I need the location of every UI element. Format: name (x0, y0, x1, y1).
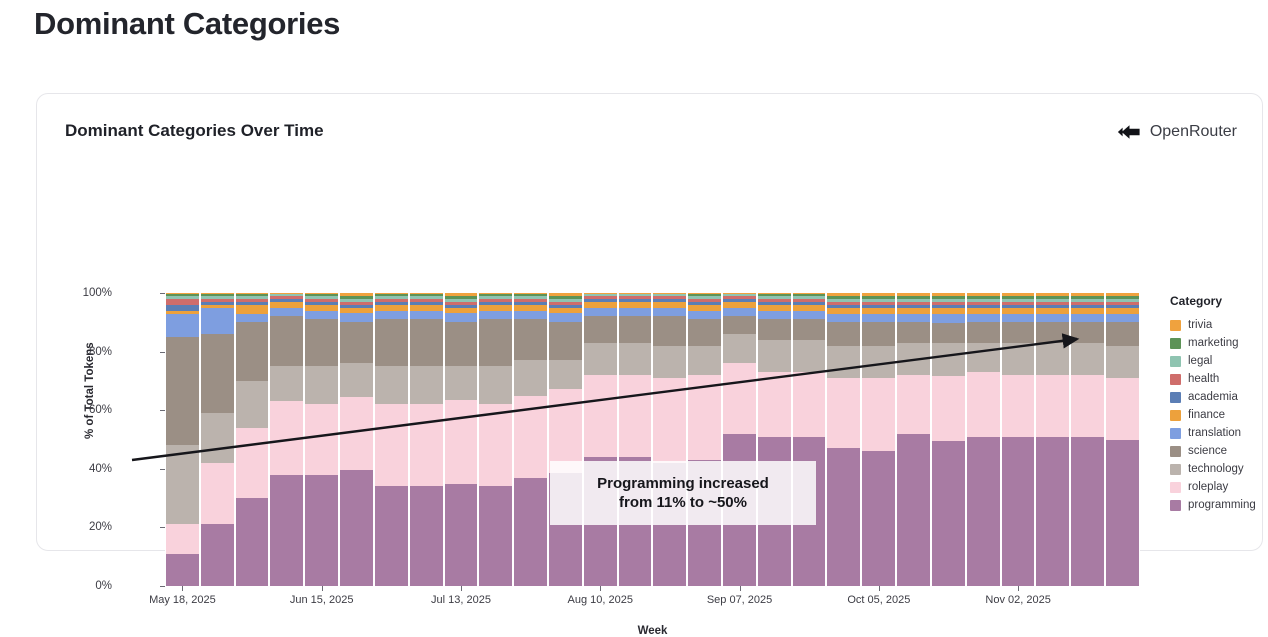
stacked-bar[interactable] (792, 293, 827, 586)
stacked-bar[interactable] (269, 293, 304, 586)
bar-segment-roleplay (270, 401, 303, 474)
chart-card: Dominant Categories Over Time OpenRouter… (36, 93, 1263, 551)
x-tick-mark (461, 586, 462, 591)
bar-segment-technology (1002, 343, 1035, 375)
bar-segment-technology (410, 366, 443, 404)
legend-label: marketing (1188, 337, 1239, 349)
stacked-bar[interactable] (826, 293, 861, 586)
bar-segment-science (862, 322, 895, 345)
bar-segment-technology (688, 346, 721, 375)
bar-segment-translation (862, 314, 895, 323)
bar-segment-science (1071, 322, 1104, 343)
legend-items: triviamarketinglegalhealthacademiafinanc… (1170, 316, 1268, 514)
bar-segment-translation (479, 311, 512, 320)
stacked-bar[interactable] (304, 293, 339, 586)
stacked-bar[interactable] (583, 293, 618, 586)
bar-segment-translation (584, 308, 617, 317)
stacked-bar[interactable] (444, 293, 479, 586)
stacked-bar[interactable] (1035, 293, 1070, 586)
bar-segment-roleplay (514, 396, 547, 478)
x-tick-label: Jul 13, 2025 (431, 594, 491, 606)
y-tick-label: 0% (52, 580, 112, 592)
bar-segment-programming (1106, 440, 1139, 587)
bar-segment-programming (1036, 437, 1069, 586)
stacked-bar[interactable] (235, 293, 270, 586)
bar-segment-technology (1036, 343, 1069, 375)
bar-segment-programming (445, 484, 478, 586)
bar-segment-programming (305, 475, 338, 586)
bar-segment-technology (270, 366, 303, 401)
bar-segment-programming (862, 451, 895, 586)
bar-segment-technology (932, 343, 965, 376)
bar-segment-translation (723, 308, 756, 317)
bar-segment-translation (375, 311, 408, 320)
stacked-bar[interactable] (1001, 293, 1036, 586)
bar-segment-roleplay (967, 372, 1000, 436)
legend-swatch-legal (1170, 356, 1181, 367)
bar-segment-technology (445, 366, 478, 401)
stacked-bar[interactable] (1070, 293, 1105, 586)
bar-segment-roleplay (445, 400, 478, 484)
legend-item-translation[interactable]: translation (1170, 424, 1268, 442)
bar-segment-science (1036, 322, 1069, 343)
bar-segment-technology (166, 445, 199, 524)
bar-segment-technology (479, 366, 512, 404)
annotation-callout: Programming increased from 11% to ~50% (550, 461, 816, 525)
bar-segment-science (723, 316, 756, 334)
bar-segment-technology (758, 340, 791, 372)
bar-segment-science (688, 319, 721, 345)
bar-segment-translation (340, 313, 373, 322)
stacked-bar[interactable] (409, 293, 444, 586)
bar-segment-roleplay (688, 375, 721, 460)
stacked-bar[interactable] (513, 293, 548, 586)
bar-segment-programming (827, 448, 860, 586)
bar-segment-roleplay (723, 363, 756, 433)
legend-label: technology (1188, 463, 1244, 475)
bar-segment-translation (619, 308, 652, 317)
x-tick-label: Jun 15, 2025 (290, 594, 354, 606)
x-tick-label: Aug 10, 2025 (568, 594, 633, 606)
bar-segment-translation (827, 314, 860, 323)
stacked-bar[interactable] (757, 293, 792, 586)
x-tick-mark (600, 586, 601, 591)
legend-item-roleplay[interactable]: roleplay (1170, 478, 1268, 496)
legend-label: finance (1188, 409, 1225, 421)
bar-segment-science (375, 319, 408, 366)
stacked-bar[interactable] (652, 293, 687, 586)
page-title: Dominant Categories (34, 6, 340, 42)
bar-segment-roleplay (827, 378, 860, 448)
stacked-bar[interactable] (966, 293, 1001, 586)
x-tick-label: May 18, 2025 (149, 594, 216, 606)
bar-segment-programming (1002, 437, 1035, 586)
bar-segment-translation (201, 308, 234, 334)
bar-segment-roleplay (201, 463, 234, 525)
bar-segment-programming (236, 498, 269, 586)
legend-label: roleplay (1188, 481, 1228, 493)
bar-segment-translation (653, 308, 686, 317)
legend-swatch-health (1170, 374, 1181, 385)
bar-segment-translation (1002, 314, 1035, 323)
bar-segment-technology (236, 381, 269, 428)
bar-segment-roleplay (1071, 375, 1104, 437)
x-tick-label: Nov 02, 2025 (985, 594, 1050, 606)
legend-item-technology[interactable]: technology (1170, 460, 1268, 478)
bar-segment-roleplay (619, 375, 652, 457)
x-tick-mark (322, 586, 323, 591)
stacked-bar[interactable] (374, 293, 409, 586)
bar-segment-science (897, 322, 930, 343)
stacked-bar[interactable] (478, 293, 513, 586)
y-tick-label: 80% (52, 346, 112, 358)
bar-segment-science (305, 319, 338, 366)
bar-segment-translation (1036, 314, 1069, 323)
bar-segment-roleplay (793, 372, 826, 436)
stacked-bar[interactable] (687, 293, 722, 586)
bar-segment-programming (410, 486, 443, 586)
bar-segment-technology (897, 343, 930, 375)
y-tick-label: 60% (52, 404, 112, 416)
bar-segment-programming (897, 434, 930, 586)
bar-segment-science (653, 316, 686, 345)
plot-area: % of Total Tokens 0%20%40%60%80%100% May… (37, 94, 1262, 550)
bar-segment-roleplay (305, 404, 338, 474)
stacked-bar[interactable] (1105, 293, 1140, 586)
bar-segment-translation (166, 314, 199, 337)
bar-segment-roleplay (584, 375, 617, 457)
bar-segment-technology (967, 343, 1000, 372)
bar-segment-technology (619, 343, 652, 375)
bar-segment-science (479, 319, 512, 366)
bar-segment-roleplay (1036, 375, 1069, 437)
stacked-bar[interactable] (931, 293, 966, 586)
bar-segment-translation (1106, 314, 1139, 323)
legend-label: translation (1188, 427, 1241, 439)
bar-segment-programming (201, 524, 234, 586)
x-tick-label: Oct 05, 2025 (847, 594, 910, 606)
legend-label: health (1188, 373, 1219, 385)
stacked-bar[interactable] (618, 293, 653, 586)
bar-segment-programming (270, 475, 303, 586)
bar-segment-translation (549, 313, 582, 322)
bar-segment-roleplay (479, 404, 512, 486)
bar-segment-programming (967, 437, 1000, 586)
bar-segment-roleplay (1106, 378, 1139, 440)
bar-segment-roleplay (340, 397, 373, 470)
bar-segment-technology (201, 413, 234, 463)
bar-segment-science (166, 337, 199, 445)
bar-segment-programming (1071, 437, 1104, 586)
bar-segment-translation (688, 311, 721, 320)
bar-segment-roleplay (236, 428, 269, 498)
bar-segment-programming (375, 486, 408, 586)
stacked-bar[interactable] (896, 293, 931, 586)
legend-swatch-translation (1170, 428, 1181, 439)
bar-segment-technology (793, 340, 826, 372)
bar-segment-technology (653, 346, 686, 378)
bar-segment-translation (410, 311, 443, 320)
legend-item-programming[interactable]: programming (1170, 496, 1268, 514)
bar-segment-translation (758, 311, 791, 320)
legend-label: trivia (1188, 319, 1212, 331)
bar-segment-programming (166, 554, 199, 586)
bar-segment-translation (897, 314, 930, 323)
stacked-bar[interactable] (200, 293, 235, 586)
bar-segment-translation (967, 314, 1000, 323)
bar-segment-science (1002, 322, 1035, 343)
bar-segment-science (236, 322, 269, 381)
bar-segment-technology (584, 343, 617, 375)
stacked-bar[interactable] (548, 293, 583, 586)
bar-segment-technology (862, 346, 895, 378)
bar-segment-technology (1106, 346, 1139, 378)
legend-swatch-technology (1170, 464, 1181, 475)
x-tick-mark (740, 586, 741, 591)
bar-segment-science (932, 323, 965, 344)
bar-segment-roleplay (897, 375, 930, 434)
bar-segment-roleplay (375, 404, 408, 486)
legend-item-science[interactable]: science (1170, 442, 1268, 460)
x-tick-mark (1018, 586, 1019, 591)
stacked-bars-plot (165, 293, 1140, 586)
bar-segment-science (514, 319, 547, 360)
bar-segment-translation (1071, 314, 1104, 323)
stacked-bar[interactable] (339, 293, 374, 586)
x-tick-mark (182, 586, 183, 591)
bar-segment-technology (514, 360, 547, 395)
bar-segment-technology (375, 366, 408, 404)
stacked-bar[interactable] (722, 293, 757, 586)
bar-segment-translation (305, 311, 338, 320)
bar-segment-translation (236, 314, 269, 323)
bar-segment-roleplay (758, 372, 791, 436)
legend-item-finance[interactable]: finance (1170, 406, 1268, 424)
bar-segment-science (758, 319, 791, 340)
bar-segment-technology (549, 360, 582, 389)
x-axis-label: Week (165, 625, 1140, 637)
bar-segment-technology (340, 363, 373, 398)
bar-segment-science (827, 322, 860, 345)
bar-segment-science (1106, 322, 1139, 345)
bar-segment-translation (514, 311, 547, 320)
legend-swatch-finance (1170, 410, 1181, 421)
legend-title: Category (1170, 294, 1268, 308)
bar-segment-translation (270, 308, 303, 317)
legend-label: science (1188, 445, 1227, 457)
legend-label: programming (1188, 499, 1256, 511)
bars-container (165, 293, 1140, 586)
bar-segment-translation (932, 314, 965, 323)
legend-swatch-marketing (1170, 338, 1181, 349)
bar-segment-roleplay (932, 376, 965, 441)
bar-segment-science (619, 316, 652, 342)
bar-segment-science (270, 316, 303, 366)
bar-segment-translation (445, 313, 478, 322)
legend-item-marketing[interactable]: marketing (1170, 334, 1268, 352)
legend-swatch-academia (1170, 392, 1181, 403)
x-tick-mark (879, 586, 880, 591)
legend-item-academia[interactable]: academia (1170, 388, 1268, 406)
bar-segment-technology (1071, 343, 1104, 375)
bar-segment-translation (793, 311, 826, 320)
bar-segment-programming (514, 478, 547, 586)
bar-segment-roleplay (410, 404, 443, 486)
x-tick-label: Sep 07, 2025 (707, 594, 772, 606)
bar-segment-programming (479, 486, 512, 586)
legend-label: academia (1188, 391, 1238, 403)
legend-item-health[interactable]: health (1170, 370, 1268, 388)
legend-swatch-trivia (1170, 320, 1181, 331)
stacked-bar[interactable] (165, 293, 200, 586)
y-tick-label: 40% (52, 463, 112, 475)
bar-segment-roleplay (862, 378, 895, 451)
bar-segment-science (445, 322, 478, 366)
bar-segment-science (793, 319, 826, 340)
legend-item-legal[interactable]: legal (1170, 352, 1268, 370)
bar-segment-technology (827, 346, 860, 378)
legend-swatch-roleplay (1170, 482, 1181, 493)
bar-segment-science (584, 316, 617, 342)
bar-segment-technology (723, 334, 756, 363)
bar-segment-science (340, 322, 373, 363)
bar-segment-programming (932, 441, 965, 586)
bar-segment-roleplay (653, 378, 686, 463)
bar-segment-roleplay (166, 524, 199, 553)
y-tick-label: 100% (52, 287, 112, 299)
bar-segment-roleplay (1002, 375, 1035, 437)
legend-item-trivia[interactable]: trivia (1170, 316, 1268, 334)
chart-legend: Category triviamarketinglegalhealthacade… (1170, 294, 1268, 514)
annotation-line-2: from 11% to ~50% (619, 493, 747, 512)
y-tick-mark (160, 586, 165, 587)
legend-swatch-science (1170, 446, 1181, 457)
legend-swatch-programming (1170, 500, 1181, 511)
legend-label: legal (1188, 355, 1212, 367)
annotation-line-1: Programming increased (597, 474, 769, 493)
stacked-bar[interactable] (861, 293, 896, 586)
bar-segment-science (410, 319, 443, 366)
bar-segment-science (549, 322, 582, 360)
y-tick-label: 20% (52, 521, 112, 533)
bar-segment-technology (305, 366, 338, 404)
bar-segment-finance (236, 305, 269, 314)
bar-segment-science (967, 322, 1000, 343)
bar-segment-science (201, 334, 234, 413)
